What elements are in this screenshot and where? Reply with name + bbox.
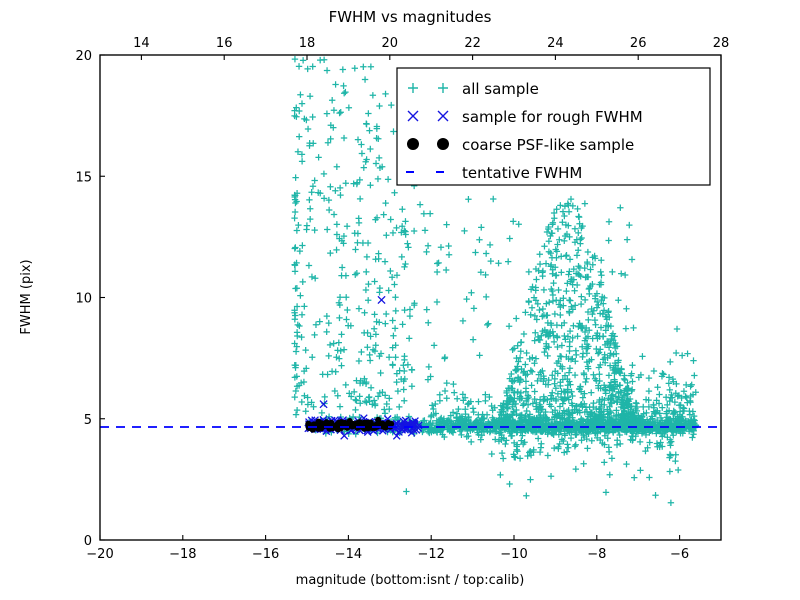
y-tick-label: 5 <box>84 413 92 428</box>
top-tick-label: 22 <box>464 36 481 51</box>
x-tick-label: −12 <box>417 547 444 562</box>
legend-marker-dot-icon <box>437 138 449 150</box>
top-tick-label: 28 <box>713 36 730 51</box>
scatter-plot: −20−18−16−14−12−10−8−6141618202224262805… <box>0 0 800 600</box>
top-tick-label: 24 <box>547 36 564 51</box>
x-tick-label: −14 <box>335 547 362 562</box>
y-tick-label: 20 <box>75 49 92 64</box>
x-tick-label: −18 <box>169 547 196 562</box>
top-tick-label: 14 <box>133 36 150 51</box>
top-tick-label: 18 <box>299 36 316 51</box>
x-tick-label: −16 <box>252 547 279 562</box>
legend-item-label: tentative FWHM <box>462 164 582 182</box>
top-tick-label: 20 <box>382 36 399 51</box>
legend: all samplesample for rough FWHMcoarse PS… <box>397 68 710 185</box>
x-axis-label: magnitude (bottom:isnt / top:calib) <box>296 573 525 588</box>
legend-item-label: sample for rough FWHM <box>462 108 643 126</box>
legend-marker-dot-icon <box>407 138 419 150</box>
x-tick-label: −8 <box>587 547 606 562</box>
legend-item-label: coarse PSF-like sample <box>462 136 634 154</box>
y-tick-label: 15 <box>75 170 92 185</box>
y-tick-label: 0 <box>84 534 92 549</box>
top-tick-label: 16 <box>216 36 233 51</box>
x-tick-label: −20 <box>86 547 113 562</box>
legend-item-label: all sample <box>462 80 539 98</box>
x-tick-label: −10 <box>500 547 527 562</box>
page-title: FWHM vs magnitudes <box>329 8 492 26</box>
figure-canvas: −20−18−16−14−12−10−8−6141618202224262805… <box>0 0 800 600</box>
y-tick-label: 10 <box>75 292 92 307</box>
data-point-dot <box>347 418 353 424</box>
y-axis-label: FWHM (pix) <box>19 259 34 334</box>
data-point-dot <box>382 422 388 428</box>
x-tick-label: −6 <box>670 547 689 562</box>
top-tick-label: 26 <box>630 36 647 51</box>
